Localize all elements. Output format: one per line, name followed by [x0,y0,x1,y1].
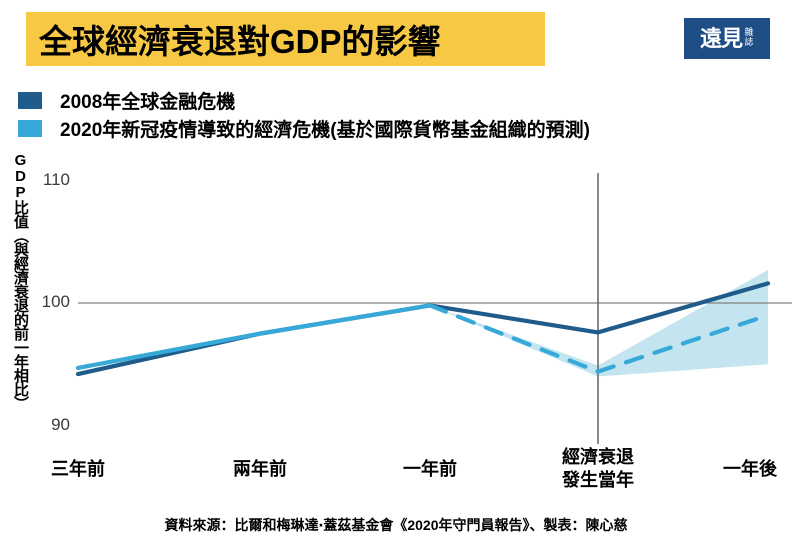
line-chart-svg [0,150,792,450]
x-tick-label-4: 一年後 [723,458,777,481]
legend-item-2020: 2020年新冠疫情導致的經濟危機(基於國際貨幣基金組織的預測) [18,114,778,142]
logo-subtext: 雜誌 [744,29,754,48]
x-tick-label-0: 三年前 [51,458,105,481]
confidence-band [430,270,768,377]
title-banner: 全球經濟衰退對GDP的影響 [26,12,545,66]
publisher-logo: 遠見 雜誌 [684,18,770,59]
logo-wordmark: 遠見 [700,28,742,50]
y-tick-label-100: 100 [30,292,70,312]
legend-swatch-2008 [18,92,42,109]
y-tick-label-90: 90 [30,415,70,435]
x-tick-label-1: 兩年前 [233,458,287,481]
chart-legend: 2008年全球金融危機 2020年新冠疫情導致的經濟危機(基於國際貨幣基金組織的… [18,86,778,142]
legend-label-2020: 2020年新冠疫情導致的經濟危機(基於國際貨幣基金組織的預測) [60,115,590,142]
x-tick-label-2: 一年前 [403,458,457,481]
confidence-band-layer [430,270,768,377]
header: 全球經濟衰退對GDP的影響 遠見 雜誌 [0,0,792,78]
chart-plot-area [0,150,792,450]
legend-item-2008: 2008年全球金融危機 [18,86,778,114]
source-credit: 資料來源：比爾和梅琳達‧蓋茲基金會《2020年守門員報告》、製表：陳心慈 [164,517,627,533]
y-tick-label-110: 110 [30,170,70,190]
legend-label-2008: 2008年全球金融危機 [60,87,235,114]
page-title: 全球經濟衰退對GDP的影響 [39,15,441,63]
x-tick-label-3: 經濟衰退發生當年 [562,446,634,492]
footer: 資料來源：比爾和梅琳達‧蓋茲基金會《2020年守門員報告》、製表：陳心慈 [0,515,792,535]
legend-swatch-2020 [18,120,42,137]
series-line-2020-solid [78,305,430,367]
